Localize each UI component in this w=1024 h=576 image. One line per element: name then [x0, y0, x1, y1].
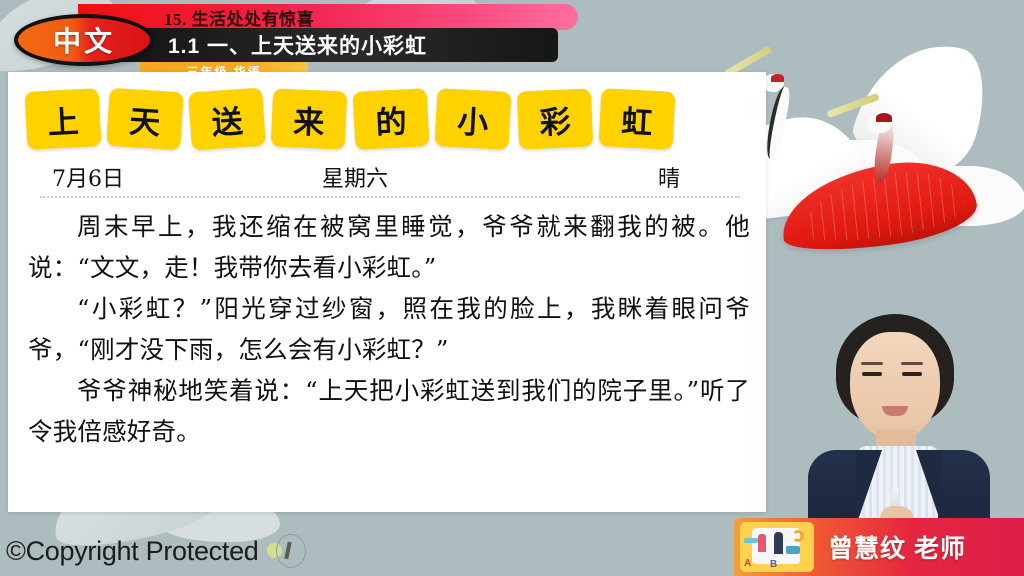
diary-date: 7月6日 [52, 161, 322, 193]
lesson-banner: 1.1 一、上天送来的小彩虹 [110, 28, 558, 62]
subject-badge-label: 中文 [53, 20, 115, 60]
char-card-label: 小 [456, 96, 489, 143]
char-card[interactable]: 小 [435, 88, 512, 150]
char-card-label: 送 [210, 95, 244, 142]
copyright-text: ©Copyright Protected [6, 536, 259, 567]
char-card-label: 彩 [539, 96, 572, 142]
char-card[interactable]: 虹 [599, 88, 676, 150]
char-card[interactable]: 彩 [517, 88, 593, 149]
teacher-name: 曾慧纹 老师 [828, 529, 966, 565]
char-card-label: 的 [374, 96, 407, 143]
slide-stage: 15. 生活处处有惊喜 1.1 一、上天送来的小彩虹 三年级 华语 中文 上 天… [0, 0, 1024, 576]
char-card-label: 虹 [620, 96, 653, 143]
chapter-banner: 15. 生活处处有惊喜 [78, 4, 578, 30]
char-card[interactable]: 来 [271, 88, 347, 149]
crane-red-icon [820, 92, 1024, 282]
paragraph: 周末早上，我还缩在被窝里睡觉，爷爷就来翻我的被。他说：“文文，走！我带你去看小彩… [28, 206, 750, 288]
diary-body: 周末早上，我还缩在被窝里睡觉，爷爷就来翻我的被。他说：“文文，走！我带你去看小彩… [28, 206, 750, 452]
char-card[interactable]: 上 [25, 88, 102, 150]
divider [40, 196, 740, 198]
diary-weekday: 星期六 [322, 161, 572, 193]
char-card-label: 天 [128, 96, 162, 143]
diary-weather: 晴 [572, 161, 728, 193]
subject-badge: 中文 [14, 14, 154, 66]
lesson-title: 1.1 一、上天送来的小彩虹 [168, 30, 427, 60]
diary-header-row: 7月6日 星期六 晴 [52, 160, 728, 194]
teacher-name-bar: A B 曾慧纹 老师 [734, 518, 1024, 576]
copyright-watermark: ©Copyright Protected [6, 534, 301, 568]
education-logo-icon: A B [740, 522, 814, 572]
crane-white-icon [766, 34, 1016, 264]
watermark-logo-icon [267, 534, 301, 568]
paragraph: 爷爷神秘地笑着说：“上天把小彩虹送到我们的院子里。”听了令我倍感好奇。 [28, 370, 750, 452]
title-card-row: 上 天 送 来 的 小 彩 虹 [26, 86, 726, 152]
char-card[interactable]: 送 [188, 87, 266, 150]
presenter-video [784, 310, 1014, 530]
paragraph: “小彩虹？”阳光穿过纱窗，照在我的脸上，我眯着眼问爷爷，“刚才没下雨，怎么会有小… [28, 288, 750, 370]
char-card-label: 上 [46, 96, 79, 143]
slide-header: 15. 生活处处有惊喜 1.1 一、上天送来的小彩虹 三年级 华语 中文 [0, 0, 640, 82]
content-page: 上 天 送 来 的 小 彩 虹 7月6日 星期六 晴 周末早上，我还缩在被窝里睡… [8, 72, 766, 512]
char-card[interactable]: 天 [106, 88, 183, 150]
chapter-title: 15. 生活处处有惊喜 [164, 5, 314, 30]
char-card[interactable]: 的 [353, 88, 430, 150]
char-card-label: 来 [293, 96, 326, 142]
